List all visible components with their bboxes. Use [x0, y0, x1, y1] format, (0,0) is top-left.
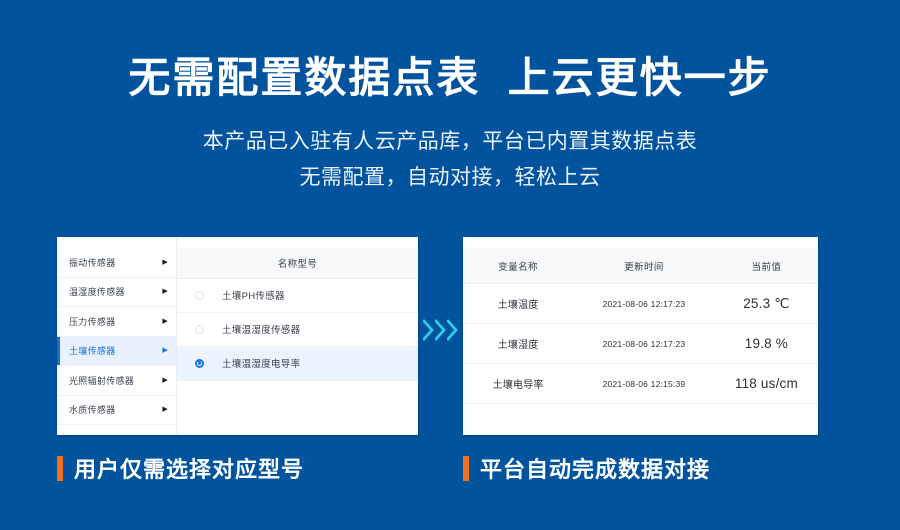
list-item-label: 土壤温湿度传感器	[222, 322, 300, 336]
caption-left-label: 用户仅需选择对应型号	[74, 452, 304, 484]
list-item[interactable]: 土壤温湿度电导率	[177, 347, 418, 381]
chevron-3-icon	[447, 319, 458, 341]
sidebar-item-label: 水质传感器	[69, 403, 116, 416]
sidebar-item-vibration[interactable]: 振动传感器 ▶	[57, 248, 176, 278]
chevron-1-icon	[423, 319, 434, 341]
category-sidebar: 振动传感器 ▶ 温湿度传感器 ▶ 压力传感器 ▶ 土壤传感器 ▶ 光照辐射传感器…	[57, 237, 177, 435]
chevron-2-icon	[435, 319, 446, 341]
chevron-right-icon: ▶	[162, 347, 168, 354]
radio-button-icon[interactable]	[195, 325, 204, 334]
sidebar-item-label: 光照辐射传感器	[69, 374, 134, 387]
list-item-label: 土壤PH传感器	[222, 288, 285, 302]
cell-variable-name: 土壤温度	[463, 284, 573, 324]
data-points-table: 变量名称 更新时间 当前值 土壤温度 2021-08-06 12:17:23 2…	[463, 248, 818, 404]
model-list-header: 名称型号	[177, 248, 418, 279]
cell-update-time: 2021-08-06 12:15:39	[573, 364, 715, 404]
captions-row: 用户仅需选择对应型号 平台自动完成数据对接	[0, 452, 900, 492]
column-header-variable-name: 变量名称	[463, 248, 573, 284]
cell-variable-name: 土壤电导率	[463, 364, 573, 404]
column-header-current-value: 当前值	[715, 248, 818, 284]
model-list-pane: 名称型号 土壤PH传感器 土壤温湿度传感器 土壤温湿度电导率	[177, 237, 418, 435]
cell-current-value: 19.8 %	[715, 324, 818, 364]
table-header-row: 变量名称 更新时间 当前值	[463, 248, 818, 284]
sidebar-item-temp-humidity[interactable]: 温湿度传感器 ▶	[57, 278, 176, 308]
list-item[interactable]: 土壤温湿度传感器	[177, 313, 418, 347]
subtitle-line-2: 无需配置，自动对接，轻松上云	[0, 160, 900, 196]
table-row: 土壤电导率 2021-08-06 12:15:39 118 us/cm	[463, 364, 818, 404]
cell-current-value: 118 us/cm	[715, 364, 818, 404]
subtitle-line-1: 本产品已入驻有人云产品库，平台已内置其数据点表	[0, 102, 900, 160]
triple-chevron-right-icon	[423, 313, 463, 347]
hero-section: 无需配置数据点表 上云更快一步 本产品已入驻有人云产品库，平台已内置其数据点表 …	[0, 0, 900, 196]
radio-button-selected-icon[interactable]	[195, 359, 204, 368]
data-points-card: 变量名称 更新时间 当前值 土壤温度 2021-08-06 12:17:23 2…	[463, 237, 818, 435]
chevron-right-icon: ▶	[162, 406, 168, 413]
table-row: 土壤湿度 2021-08-06 12:17:23 19.8 %	[463, 324, 818, 364]
orange-bar-icon	[57, 456, 63, 481]
sidebar-item-pressure[interactable]: 压力传感器 ▶	[57, 307, 176, 337]
panels-row: 振动传感器 ▶ 温湿度传感器 ▶ 压力传感器 ▶ 土壤传感器 ▶ 光照辐射传感器…	[0, 237, 900, 437]
cell-current-value: 25.3 ℃	[715, 284, 818, 324]
list-item-label: 土壤温湿度电导率	[222, 356, 300, 370]
column-header-update-time: 更新时间	[573, 248, 715, 284]
sidebar-item-label: 土壤传感器	[69, 344, 116, 357]
product-selection-card: 振动传感器 ▶ 温湿度传感器 ▶ 压力传感器 ▶ 土壤传感器 ▶ 光照辐射传感器…	[57, 237, 418, 435]
sidebar-item-light-radiation[interactable]: 光照辐射传感器 ▶	[57, 366, 176, 396]
chevron-right-icon: ▶	[162, 377, 168, 384]
orange-bar-icon	[463, 456, 469, 481]
chevron-right-icon: ▶	[162, 318, 168, 325]
cell-variable-name: 土壤湿度	[463, 324, 573, 364]
sidebar-item-label: 温湿度传感器	[69, 285, 125, 298]
chevron-right-icon: ▶	[162, 259, 168, 266]
sidebar-item-label: 振动传感器	[69, 256, 116, 269]
list-item[interactable]: 土壤PH传感器	[177, 279, 418, 313]
cell-update-time: 2021-08-06 12:17:23	[573, 324, 715, 364]
sidebar-item-label: 压力传感器	[69, 315, 116, 328]
chevron-right-icon: ▶	[162, 288, 168, 295]
page-title: 无需配置数据点表 上云更快一步	[0, 0, 900, 102]
cell-update-time: 2021-08-06 12:17:23	[573, 284, 715, 324]
caption-right: 平台自动完成数据对接	[463, 452, 710, 484]
table-row: 土壤温度 2021-08-06 12:17:23 25.3 ℃	[463, 284, 818, 324]
sidebar-item-water-quality[interactable]: 水质传感器 ▶	[57, 396, 176, 426]
sidebar-item-soil[interactable]: 土壤传感器 ▶	[57, 337, 176, 367]
caption-right-label: 平台自动完成数据对接	[480, 452, 710, 484]
caption-left: 用户仅需选择对应型号	[57, 452, 304, 484]
radio-button-icon[interactable]	[195, 291, 204, 300]
